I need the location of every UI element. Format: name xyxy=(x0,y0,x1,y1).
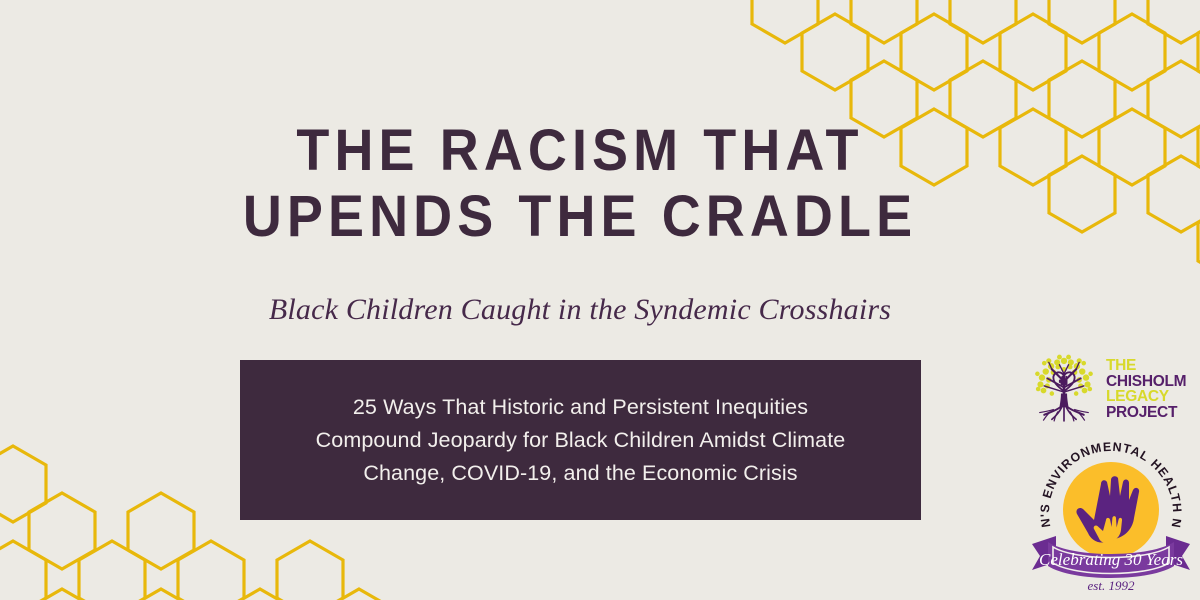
description-line-2: Compound Jeopardy for Black Children Ami… xyxy=(316,424,846,457)
chisholm-word-project: Project xyxy=(1106,405,1186,421)
tree-with-heart-fist-icon xyxy=(1026,351,1102,427)
headline-line-1: The Racism That xyxy=(41,118,1120,184)
chisholm-word-chisholm: Chisholm xyxy=(1106,374,1186,390)
cehn-seal-logo: CHILDREN'S ENVIRONMENTAL HEALTH NETWORK … xyxy=(1028,432,1194,598)
established-text: est. 1992 xyxy=(1088,578,1135,593)
description-line-3: Change, COVID-19, and the Economic Crisi… xyxy=(316,457,846,490)
description-text: 25 Ways That Historic and Persistent Ine… xyxy=(288,391,874,490)
headline-line-2: Upends the Cradle xyxy=(41,184,1120,250)
poster-subtitle: Black Children Caught in the Syndemic Cr… xyxy=(0,292,1160,328)
chisholm-word-legacy: Legacy xyxy=(1106,389,1186,405)
description-box: 25 Ways That Historic and Persistent Ine… xyxy=(240,360,921,520)
chisholm-word-the: The xyxy=(1106,358,1186,374)
ribbon-text: Celebrating 30 Years xyxy=(1039,550,1183,569)
chisholm-wordmark: The Chisholm Legacy Project xyxy=(1106,358,1186,420)
chisholm-legacy-project-logo: The Chisholm Legacy Project xyxy=(1026,350,1198,428)
poster-canvas: The Racism That Upends the Cradle Black … xyxy=(0,0,1200,600)
poster-headline: The Racism That Upends the Cradle xyxy=(41,118,1120,250)
description-line-1: 25 Ways That Historic and Persistent Ine… xyxy=(316,391,846,424)
